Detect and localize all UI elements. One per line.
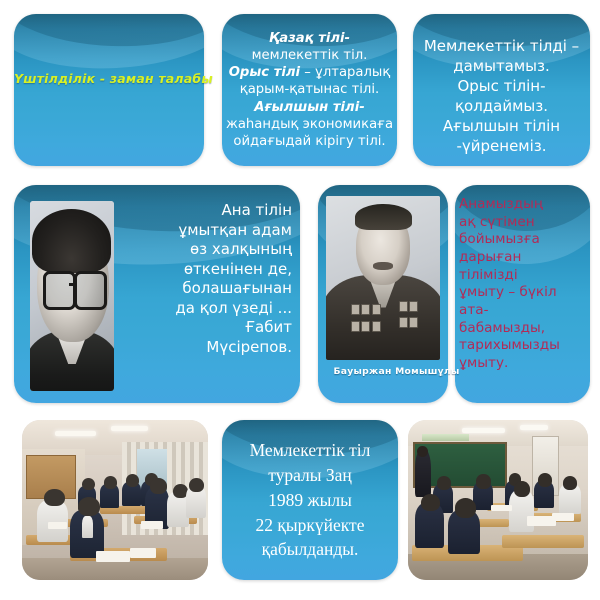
bauyrzhan-momyshuly-portrait <box>326 196 440 360</box>
law-line-5: қабылданды. <box>226 537 394 562</box>
kazakh-language-label: Қазақ тілі- <box>269 31 350 46</box>
momyshuly-caption: Бауыржан Момышұлы <box>314 366 479 377</box>
tile-musirepov-quote: Ана тілін ұмытқан адам өз халқының өткен… <box>14 185 300 403</box>
classroom-students-photo <box>22 420 208 580</box>
tile-momyshuly-portrait: Бауыржан Момышұлы <box>318 185 448 403</box>
tile-classroom-left <box>22 420 208 580</box>
russian-language-desc-2: қарым-қатынас тілі. <box>206 81 413 98</box>
mother-line-7: ата- <box>459 302 588 320</box>
state-language-line-3: Орыс тілін- <box>409 76 594 96</box>
gabit-musirepov-portrait <box>30 201 114 391</box>
english-language-label: Ағылшын тілі- <box>254 100 364 115</box>
mother-line-9: тарихымызды <box>459 337 588 355</box>
mother-line-4: дарыған <box>459 249 588 267</box>
law-line-3: 1989 жылы <box>226 488 394 513</box>
mother-line-6: ұмыту – бүкіл <box>459 284 588 302</box>
state-language-line-6: -үйренеміз. <box>409 136 594 156</box>
state-language-line-1: Мемлекеттік тілді – <box>409 36 594 56</box>
russian-language-label: Орыс тілі <box>229 65 300 80</box>
tile-classroom-right <box>408 420 588 580</box>
language-law-text: Мемлекеттік тіл туралы Заң 1989 жылы 22 … <box>226 438 394 562</box>
classroom-lesson-photo <box>408 420 588 580</box>
three-languages-text: Қазақ тілі- мемлекеттік тіл. Орыс тілі –… <box>206 30 413 150</box>
mother-line-1: Анамыздың <box>459 196 588 214</box>
tile-three-languages: Қазақ тілі- мемлекеттік тіл. Орыс тілі –… <box>222 14 397 166</box>
tile-slogan: Үштілділік - заман талабы <box>14 14 204 166</box>
english-language-desc-1: жаһандық экономикаға <box>206 116 413 133</box>
kazakh-language-desc: мемлекеттік тіл. <box>206 47 413 64</box>
law-line-2: туралы Заң <box>226 463 394 488</box>
tile-background <box>14 14 204 166</box>
state-language-line-4: қолдаймыз. <box>409 96 594 116</box>
mother-line-5: тілімізді <box>459 267 588 285</box>
law-line-4: 22 қыркүйекте <box>226 513 394 538</box>
mother-line-8: бабамызды, <box>459 320 588 338</box>
russian-language-desc-1: – ұлтаралық <box>300 65 390 80</box>
state-language-line-5: Ағылшын тілін <box>409 116 594 136</box>
state-language-text: Мемлекеттік тілді – дамытамыз. Орыс тілі… <box>409 36 594 157</box>
tile-language-law: Мемлекеттік тіл туралы Заң 1989 жылы 22 … <box>222 420 398 580</box>
tile-state-language: Мемлекеттік тілді – дамытамыз. Орыс тілі… <box>413 14 590 166</box>
state-language-line-2: дамытамыз. <box>409 56 594 76</box>
mother-line-3: бойымызға <box>459 231 588 249</box>
english-language-desc-2: ойдағыдай кірігу тілі. <box>206 133 413 150</box>
language-poster-collage: Үштілділік - заман талабы Қазақ тілі- ме… <box>0 0 600 600</box>
law-line-1: Мемлекеттік тіл <box>226 438 394 463</box>
mother-line-2: ақ сүтімен <box>459 214 588 232</box>
mother-tongue-quote-text: Анамыздың ақ сүтімен бойымызға дарыған т… <box>459 196 588 373</box>
slogan-text: Үштілділік - заман талабы <box>14 72 204 87</box>
